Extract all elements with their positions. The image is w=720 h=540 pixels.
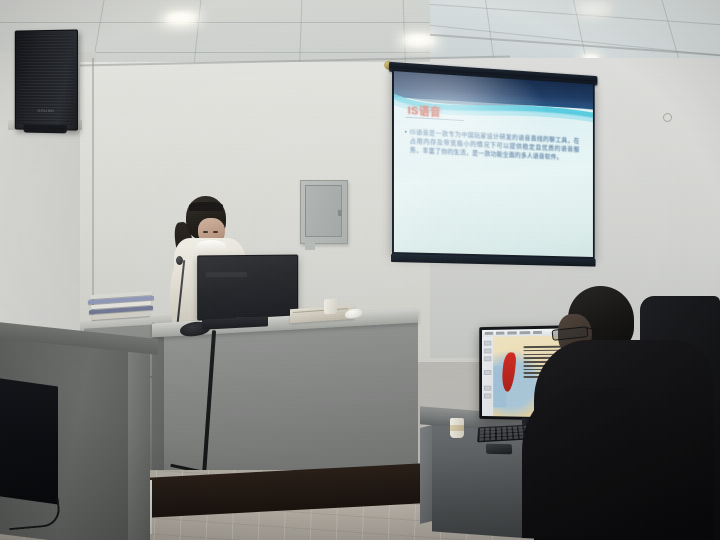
tool-measure-icon[interactable] (484, 370, 491, 375)
projector-screen: IS语音 IS语音是一款专为中国玩家设计研发的语音直线的聊工具，在占用内存及带宽… (392, 63, 595, 263)
tool-pan-icon[interactable] (484, 356, 491, 361)
tool-layers-icon[interactable] (484, 386, 491, 391)
speaker-badge-label: SOUND (37, 108, 54, 113)
slide-bullet-text: IS语音是一款专为中国玩家设计研发的语音直线的聊工具，在占用内存及带宽极小的情况… (410, 128, 580, 164)
stack-of-books (88, 291, 156, 322)
presenter-headband (189, 202, 223, 211)
presenter-eye-right (213, 231, 218, 233)
menu-item-edit[interactable] (496, 332, 504, 335)
podium-monitor-rear (197, 255, 298, 322)
speaker-foot (23, 125, 66, 134)
menu-item-file[interactable] (485, 332, 493, 335)
tool-legend-icon[interactable] (484, 394, 491, 399)
tool-zoom-icon[interactable] (484, 348, 491, 353)
panel-conduit-stub (305, 242, 315, 250)
attendee-paper-cup (450, 418, 464, 438)
panel-inner-door (305, 185, 342, 237)
ceiling-light-1-core (164, 11, 198, 25)
foreground-monitor (0, 378, 58, 505)
tool-select-icon[interactable] (484, 341, 491, 346)
seated-attendee (532, 284, 720, 540)
ceiling-light-3 (574, 0, 614, 18)
slide-body: IS语音是一款专为中国玩家设计研发的语音直线的聊工具，在占用内存及带宽极小的情况… (405, 128, 580, 164)
menu-item-tools[interactable] (520, 331, 531, 334)
panel-latch[interactable] (338, 210, 342, 216)
monitor-glint (206, 272, 247, 277)
map-highlighted-region[interactable] (501, 352, 517, 393)
wall-speaker: SOUND (15, 29, 78, 130)
foreground-desk-edge (128, 340, 150, 540)
microphone-head (176, 256, 183, 265)
utility-access-panel[interactable] (300, 180, 348, 244)
slide-bullet-item: IS语音是一款专为中国玩家设计研发的语音直线的聊工具，在占用内存及带宽极小的情况… (405, 128, 580, 164)
menu-item-view[interactable] (507, 331, 516, 334)
cup-sleeve (450, 425, 464, 431)
screen-frame: IS语音 IS语音是一款专为中国玩家设计研发的语音直线的聊工具，在占用内存及带宽… (392, 69, 595, 259)
presenter-eye-left (203, 231, 208, 233)
podium-paper-cup (324, 299, 337, 315)
attendee-shoulder (522, 388, 642, 538)
bullet-marker-icon (405, 131, 407, 133)
classroom-presentation-photo: SOUND IS语音 (0, 0, 720, 540)
presenter-collar (196, 240, 226, 252)
projected-slide: IS语音 IS语音是一款专为中国玩家设计研发的语音直线的聊工具，在占用内存及带宽… (394, 71, 593, 257)
mobile-phone[interactable] (486, 444, 512, 454)
wall-scuff-mark (663, 113, 672, 122)
